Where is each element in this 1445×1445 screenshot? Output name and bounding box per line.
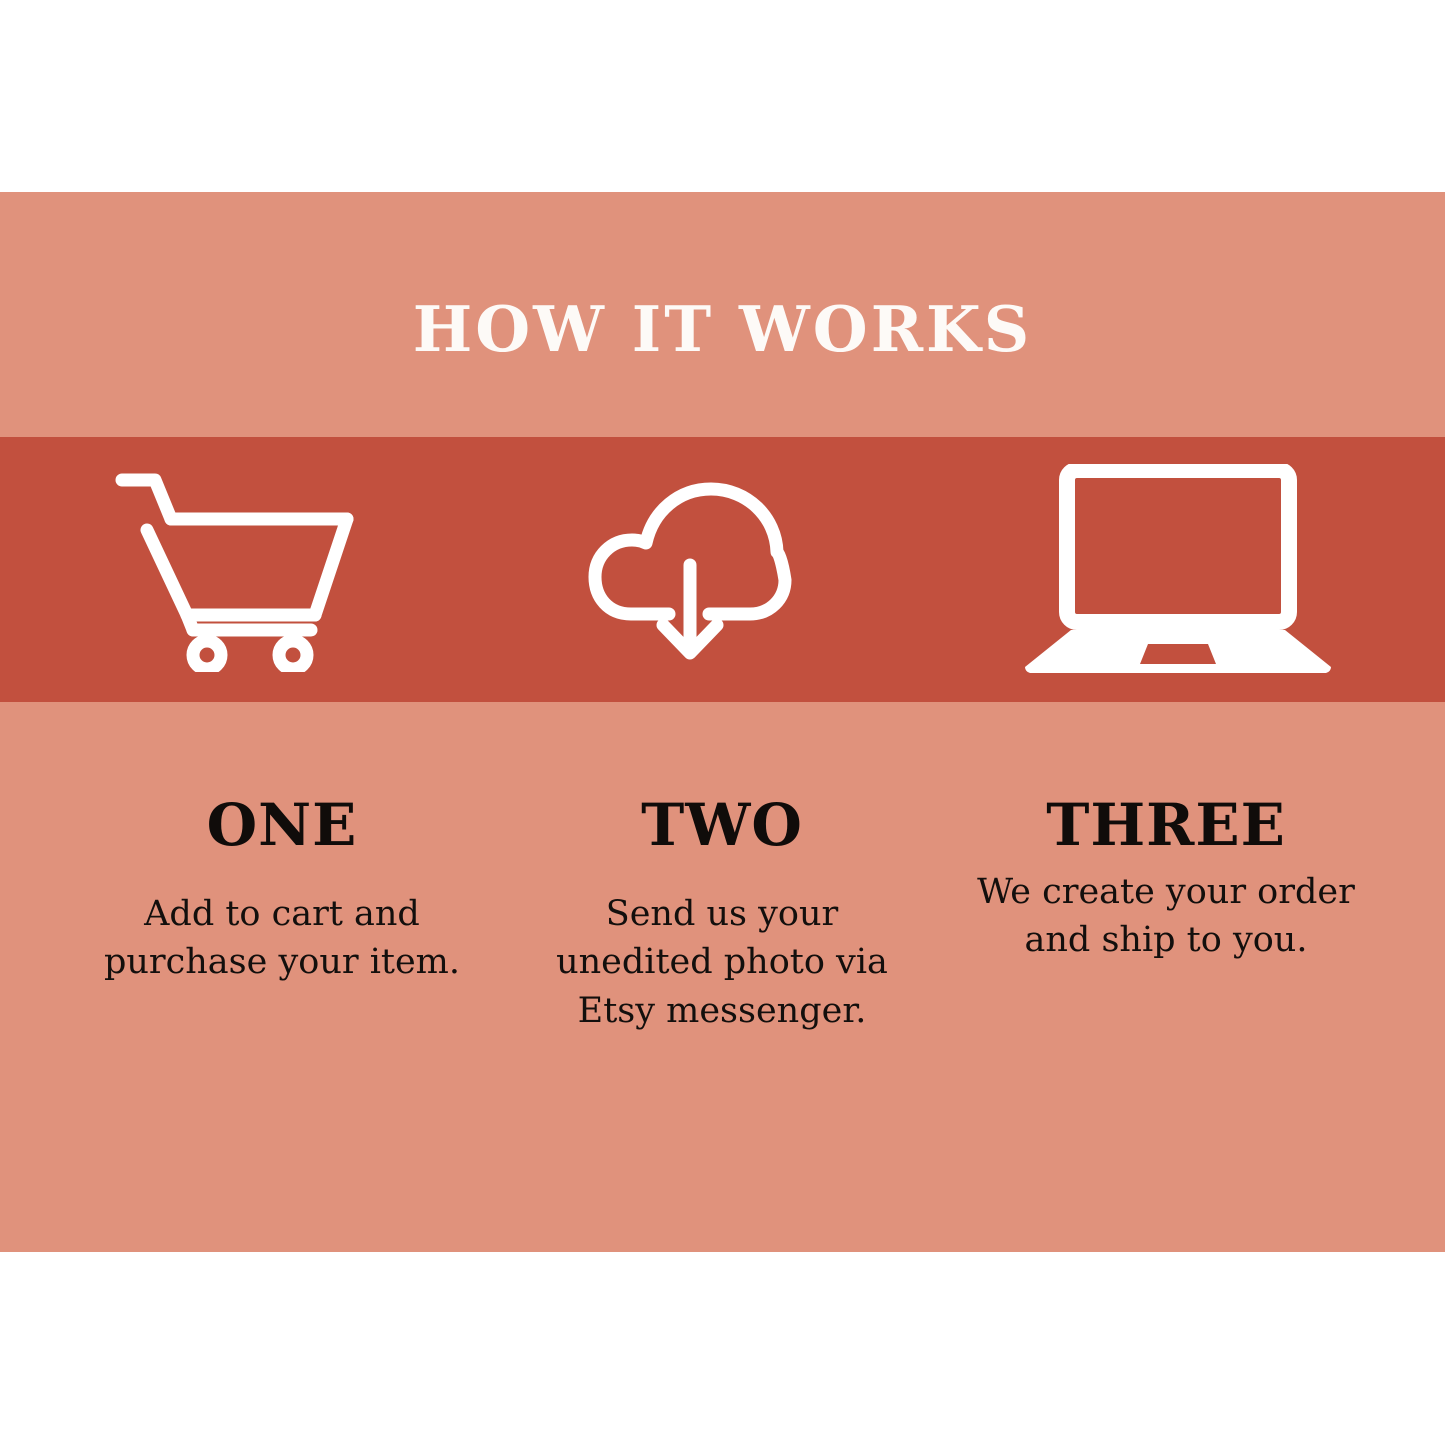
laptop-icon <box>1019 464 1337 676</box>
step-heading-one: ONE <box>82 702 482 854</box>
icon-cell-one <box>0 437 470 702</box>
icon-cell-three <box>910 437 1445 702</box>
step-heading-three: THREE <box>960 702 1372 854</box>
step-column-one: ONE Add to cart and purchase your item. <box>82 702 482 987</box>
step-body-two: Send us your unedited photo via Etsy mes… <box>522 854 922 1035</box>
page-title: HOW IT WORKS <box>0 298 1445 361</box>
icon-cell-two <box>470 437 910 702</box>
step-column-two: TWO Send us your unedited photo via Etsy… <box>522 702 922 1035</box>
cloud-download-icon <box>587 470 793 670</box>
step-body-three: We create your order and ship to you. <box>960 854 1372 965</box>
step-column-three: THREE We create your order and ship to y… <box>960 702 1372 965</box>
how-it-works-poster: HOW IT WORKS <box>0 0 1445 1445</box>
steps-row: ONE Add to cart and purchase your item. … <box>0 702 1445 1252</box>
step-heading-two: TWO <box>522 702 922 854</box>
icon-row <box>0 437 1445 702</box>
step-body-one: Add to cart and purchase your item. <box>82 854 482 987</box>
shopping-cart-icon <box>115 467 355 672</box>
